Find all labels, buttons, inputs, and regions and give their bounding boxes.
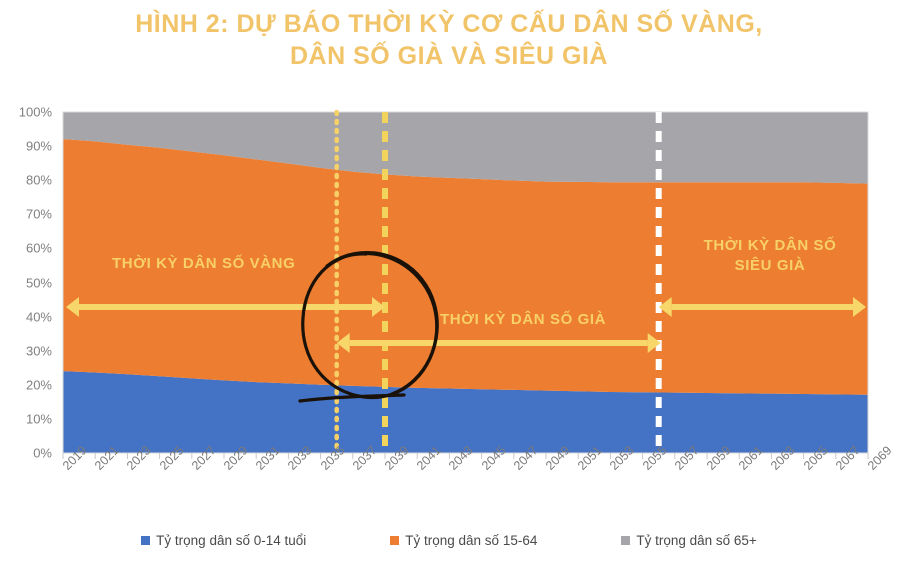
annotation-super-aged-line-1: THỜI KỲ DÂN SỐ bbox=[704, 237, 837, 254]
legend-item[interactable]: Tỷ trọng dân số 65+ bbox=[621, 533, 756, 548]
x-tick-label: 2055 bbox=[640, 443, 670, 473]
legend-swatch bbox=[390, 536, 399, 545]
legend-label: Tỷ trọng dân số 0-14 tuổi bbox=[156, 533, 306, 548]
chart-legend: Tỷ trọng dân số 0-14 tuổiTỷ trọng dân số… bbox=[0, 533, 898, 548]
x-tick-label: 2037 bbox=[350, 443, 380, 473]
x-tick-label: 2039 bbox=[382, 443, 412, 473]
x-tick-label: 2041 bbox=[414, 443, 444, 473]
x-tick-label: 2053 bbox=[607, 443, 637, 473]
legend-label: Tỷ trọng dân số 65+ bbox=[636, 533, 756, 548]
x-tick-label: 2047 bbox=[511, 443, 541, 473]
legend-item[interactable]: Tỷ trọng dân số 15-64 bbox=[390, 533, 537, 548]
annotation-super-aged-period: THỜI KỲ DÂN SỐ SIÊU GIÀ bbox=[690, 236, 850, 276]
x-tick-label: 2051 bbox=[575, 443, 605, 473]
x-axis-labels: 2019202120232025202720292031203320352037… bbox=[0, 0, 898, 564]
x-tick-label: 2059 bbox=[704, 443, 734, 473]
annotation-aged-period: THỜI KỲ DÂN SỐ GIÀ bbox=[440, 310, 606, 330]
legend-swatch bbox=[621, 536, 630, 545]
x-tick-label: 2027 bbox=[189, 443, 219, 473]
legend-item[interactable]: Tỷ trọng dân số 0-14 tuổi bbox=[141, 533, 306, 548]
x-tick-label: 2025 bbox=[157, 443, 187, 473]
x-tick-label: 2023 bbox=[124, 443, 154, 473]
x-tick-label: 2043 bbox=[446, 443, 476, 473]
annotation-super-aged-line-2: SIÊU GIÀ bbox=[735, 257, 806, 274]
x-tick-label: 2067 bbox=[833, 443, 863, 473]
x-tick-label: 2033 bbox=[285, 443, 315, 473]
x-tick-label: 2029 bbox=[221, 443, 251, 473]
legend-label: Tỷ trọng dân số 15-64 bbox=[405, 533, 537, 548]
x-tick-label: 2049 bbox=[543, 443, 573, 473]
legend-swatch bbox=[141, 536, 150, 545]
x-tick-label: 2019 bbox=[60, 443, 90, 473]
x-tick-label: 2021 bbox=[92, 443, 122, 473]
x-tick-label: 2031 bbox=[253, 443, 283, 473]
x-tick-label: 2045 bbox=[479, 443, 509, 473]
x-tick-label: 2057 bbox=[672, 443, 702, 473]
x-tick-label: 2035 bbox=[318, 443, 348, 473]
x-tick-label: 2069 bbox=[865, 443, 895, 473]
figure-container: HÌNH 2: DỰ BÁO THỜI KỲ CƠ CẤU DÂN SỐ VÀN… bbox=[0, 0, 898, 564]
x-tick-label: 2063 bbox=[768, 443, 798, 473]
x-tick-label: 2065 bbox=[801, 443, 831, 473]
chart-plot-area: 0%10%20%30%40%50%60%70%80%90%100% 201920… bbox=[0, 0, 898, 564]
x-tick-label: 2061 bbox=[736, 443, 766, 473]
annotation-golden-period: THỜI KỲ DÂN SỐ VÀNG bbox=[112, 254, 295, 274]
